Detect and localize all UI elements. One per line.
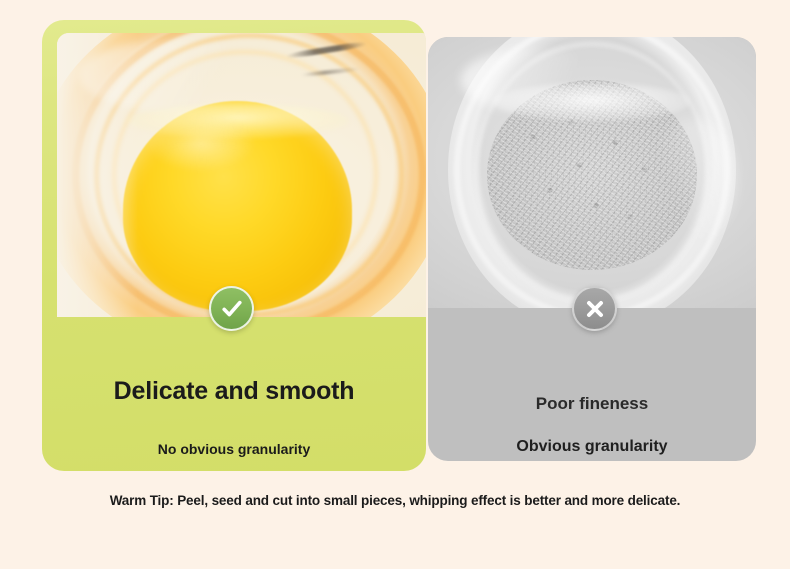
photo-left-fade [57,33,138,317]
comparison-infographic: Delicate and smooth No obvious granulari… [0,0,790,569]
good-panel-title: Delicate and smooth [42,377,426,406]
x-circle-icon [572,286,617,331]
good-result-panel: Delicate and smooth No obvious granulari… [42,20,426,471]
bad-panel-title: Poor fineness [428,394,756,414]
grainy-cup-illustration [428,37,756,308]
bad-product-photo [428,37,756,308]
juice-highlight [146,115,257,172]
check-circle-icon [209,286,254,331]
cup-rim-highlight-grey [461,48,612,113]
bad-result-panel: Poor fineness Obvious granularity [428,37,756,461]
good-product-photo [57,33,426,317]
cup-side-highlight-grey [651,118,736,243]
bad-panel-subtitle: Obvious granularity [428,438,756,456]
good-panel-subtitle: No obvious granularity [42,441,426,457]
juice-cup-illustration [57,33,426,317]
warm-tip-text: Warm Tip: Peel, seed and cut into small … [0,493,790,508]
